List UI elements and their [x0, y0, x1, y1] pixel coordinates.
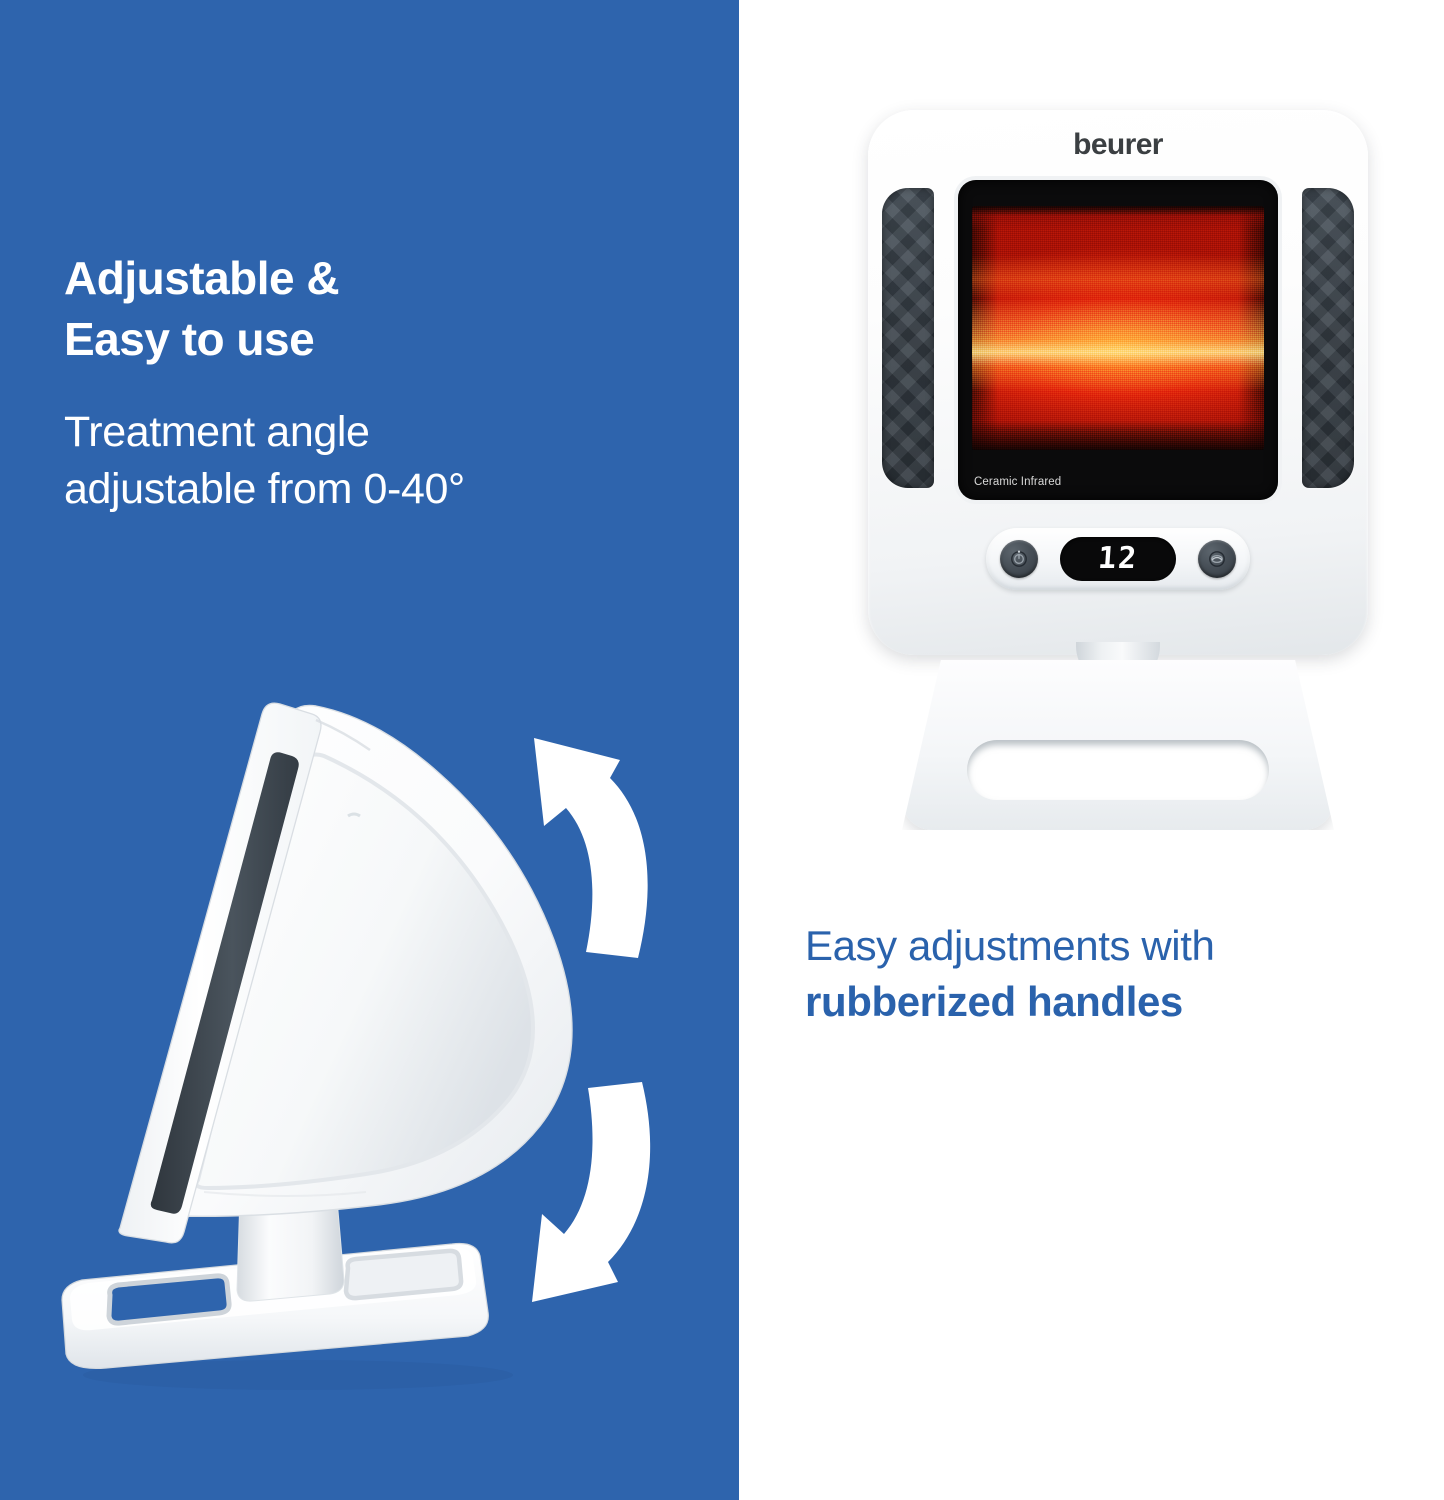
- base-cutout-left: [109, 1276, 229, 1323]
- power-button[interactable]: [1000, 540, 1038, 578]
- right-white-panel: beurer Ceramic Infrared: [739, 0, 1444, 1500]
- caption-line-bold: rubberized handles: [805, 974, 1444, 1030]
- power-icon: [1009, 549, 1029, 569]
- beurer-logo: beurer: [868, 128, 1368, 162]
- left-blue-panel: Adjustable & Easy to use Treatment angle…: [0, 0, 739, 1500]
- control-bar: 12: [986, 528, 1250, 590]
- display-value: 12: [1097, 544, 1139, 574]
- timer-icon: [1207, 549, 1227, 569]
- feature-panel-stage: Adjustable & Easy to use Treatment angle…: [0, 0, 1444, 1500]
- subheadline-line-1: Treatment angle: [64, 404, 739, 461]
- stand-handle-slot[interactable]: [967, 740, 1269, 800]
- headline-line-2: Easy to use: [64, 309, 724, 370]
- lamp-housing: beurer Ceramic Infrared: [868, 110, 1368, 655]
- emitter-label: Ceramic Infrared: [974, 476, 1061, 488]
- display-screen: 12: [1060, 537, 1176, 581]
- headline-line-1: Adjustable &: [64, 248, 724, 309]
- emitter-bezel: Ceramic Infrared: [958, 180, 1278, 500]
- timer-button[interactable]: [1198, 540, 1236, 578]
- base-pocket-right: [346, 1251, 461, 1298]
- subheadline: Treatment angle adjustable from 0-40°: [64, 404, 739, 518]
- infrared-lamp-front-view: beurer Ceramic Infrared: [840, 100, 1440, 830]
- ceramic-infrared-emitter: [972, 206, 1264, 450]
- rubberized-grip-left[interactable]: [882, 188, 934, 488]
- headline: Adjustable & Easy to use: [64, 248, 724, 369]
- subheadline-line-2: adjustable from 0-40°: [64, 461, 739, 518]
- side-view-infrared-lamp: [48, 640, 668, 1420]
- feature-caption: Easy adjustments with rubberized handles: [805, 918, 1444, 1030]
- caption-line-regular: Easy adjustments with: [805, 918, 1444, 974]
- rubberized-grip-right[interactable]: [1302, 188, 1354, 488]
